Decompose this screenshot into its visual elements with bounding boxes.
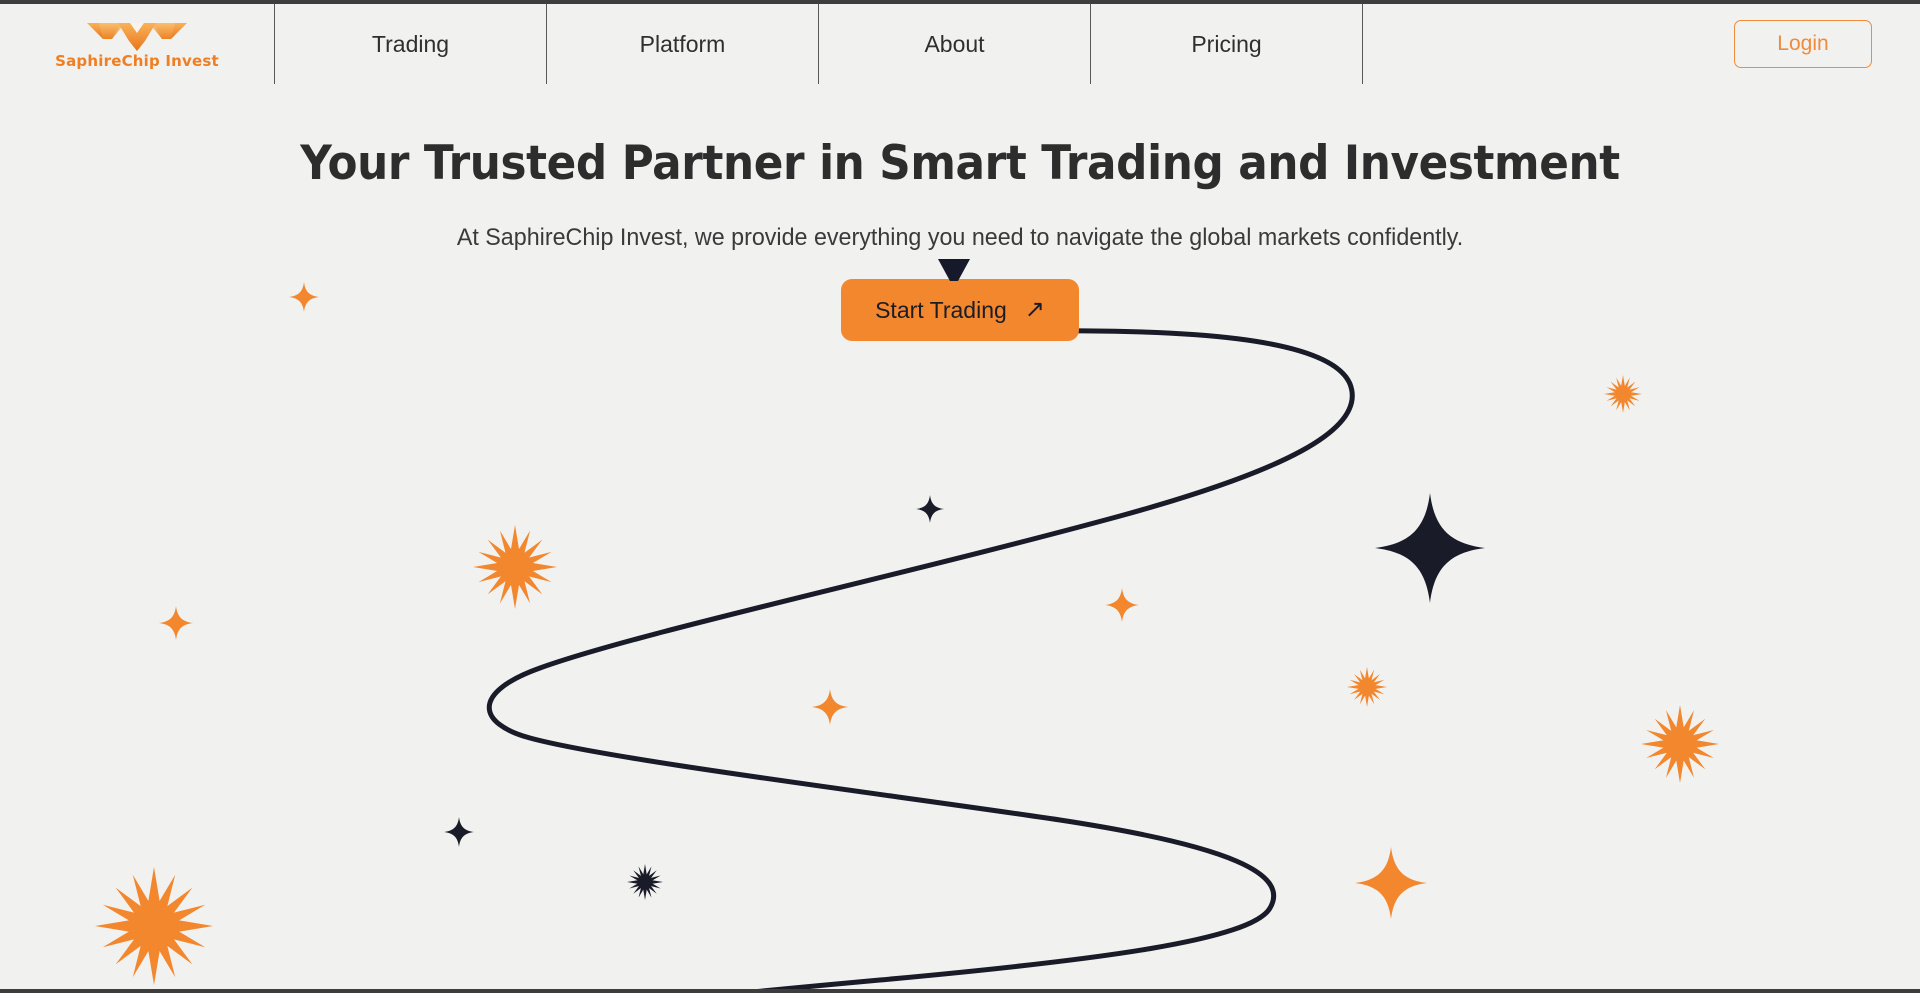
hero-section: Your Trusted Partner in Smart Trading an…	[0, 84, 1920, 989]
cta-container: Start Trading ↗	[841, 279, 1079, 341]
mouse-cursor-pointer	[936, 257, 972, 283]
login-label: Login	[1777, 32, 1828, 56]
nav-item-platform[interactable]: Platform	[546, 4, 818, 84]
chevron-gradient-logo-mark	[85, 19, 189, 53]
page-title: Your Trusted Partner in Smart Trading an…	[67, 136, 1853, 191]
hero-subtitle: At SaphireChip Invest, we provide everyt…	[29, 224, 1891, 252]
nav-label: Trading	[372, 31, 449, 58]
nav-label: Platform	[640, 31, 726, 58]
site-header: SaphireChip Invest Trading Platform Abou…	[0, 4, 1920, 84]
hero-content: Your Trusted Partner in Smart Trading an…	[0, 84, 1920, 989]
start-trading-button[interactable]: Start Trading ↗	[841, 279, 1079, 341]
brand-name: SaphireChip Invest	[55, 54, 219, 69]
header-actions: Login	[1734, 4, 1920, 84]
header-spacer	[1362, 4, 1734, 84]
login-button[interactable]: Login	[1734, 20, 1872, 68]
main-nav: Trading Platform About Pricing	[274, 4, 1362, 84]
brand-logo[interactable]: SaphireChip Invest	[0, 4, 274, 84]
nav-item-trading[interactable]: Trading	[274, 4, 546, 84]
nav-label: About	[924, 31, 984, 58]
arrow-up-right-icon: ↗	[1025, 298, 1045, 322]
nav-label: Pricing	[1191, 31, 1261, 58]
nav-item-about[interactable]: About	[818, 4, 1090, 84]
cta-label: Start Trading	[875, 297, 1007, 324]
nav-item-pricing[interactable]: Pricing	[1090, 4, 1362, 84]
page-root: SaphireChip Invest Trading Platform Abou…	[0, 0, 1920, 993]
